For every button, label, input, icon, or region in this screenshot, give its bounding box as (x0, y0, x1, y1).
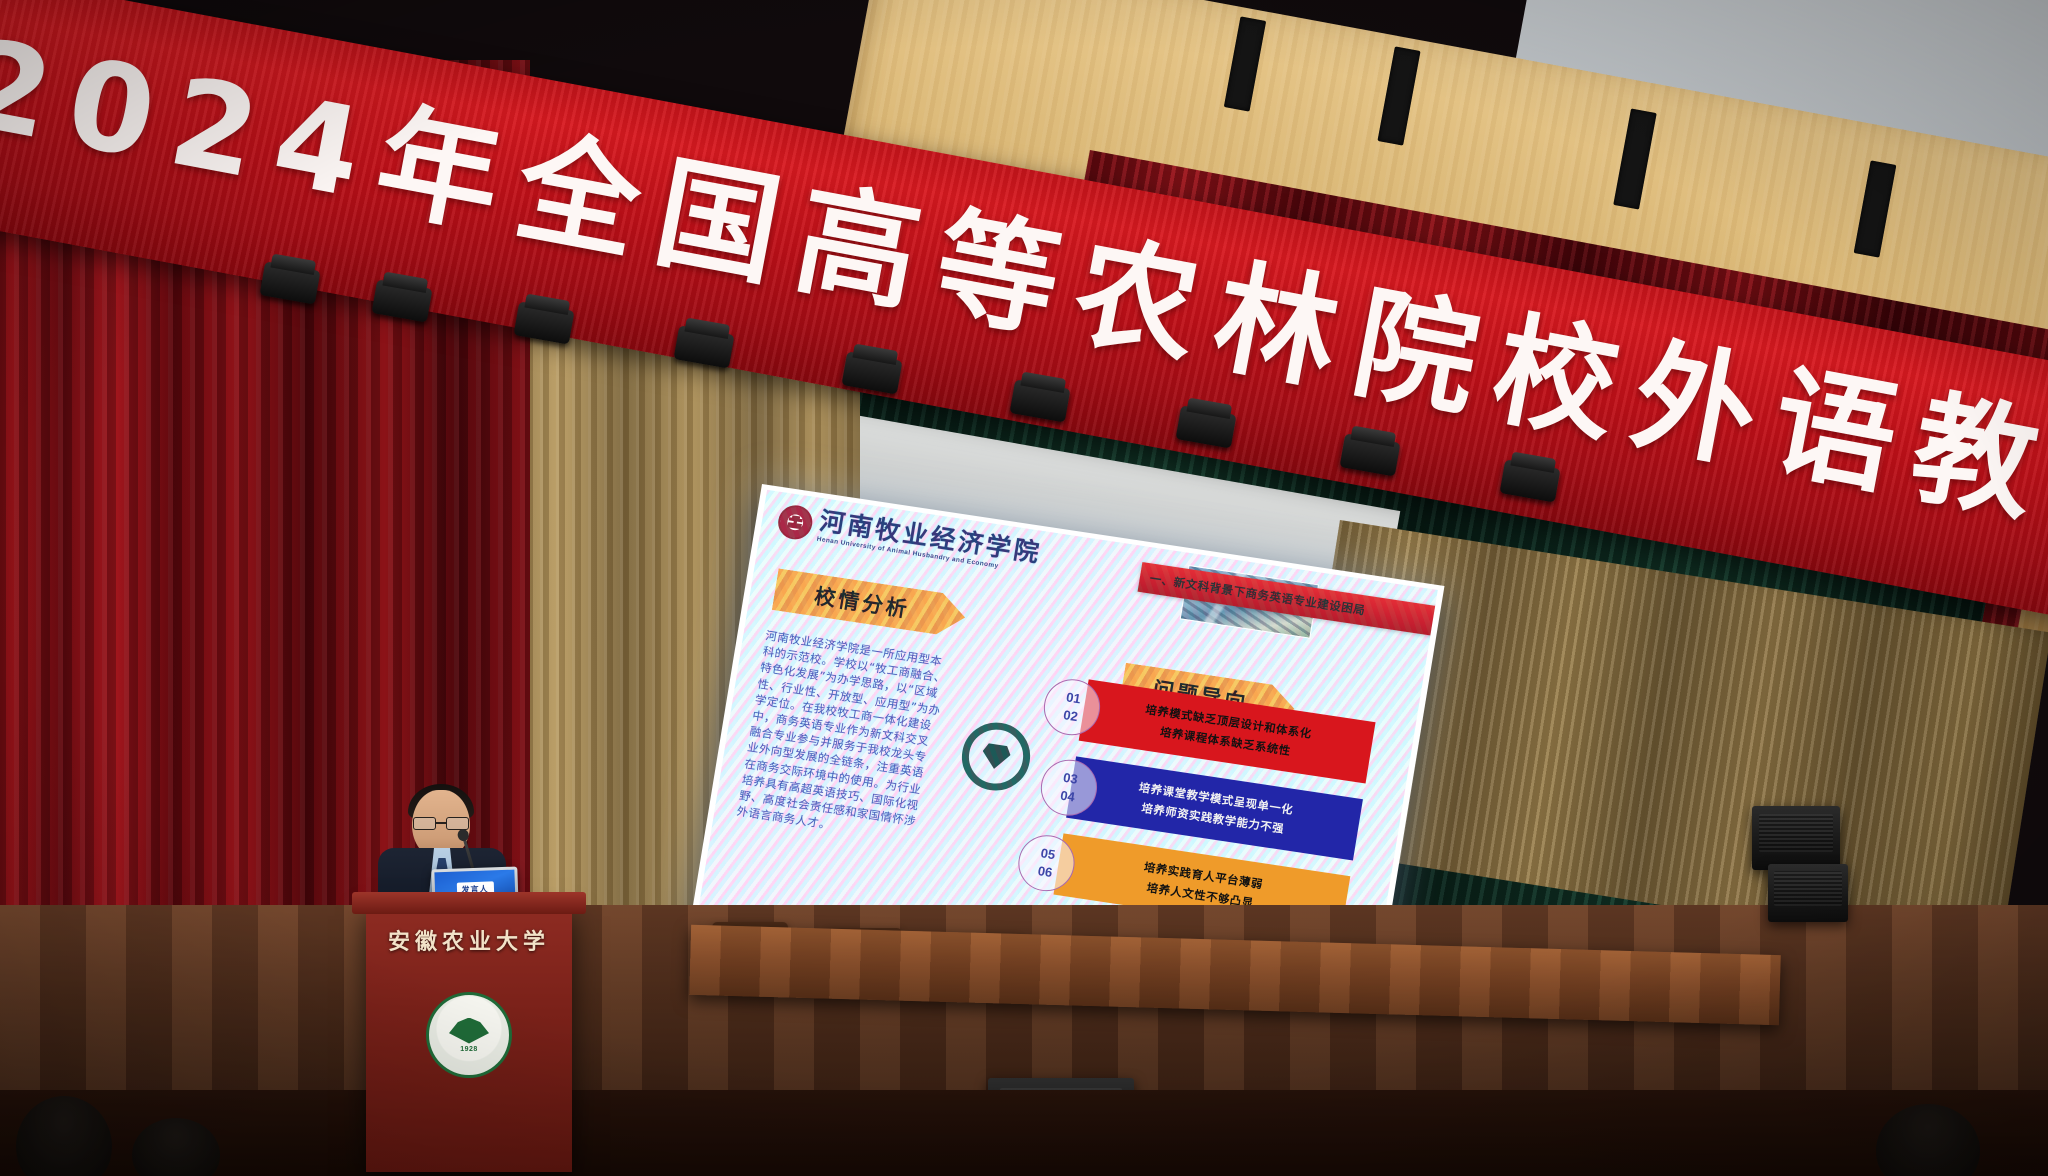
conference-hall-photo: 2024年全国高等农林院校外语教学研究会年会 河南牧业经济学院 Henan Un… (0, 0, 2048, 1176)
slide-body-paragraph: 河南牧业经济学院是一所应用型本科的示范校。学校以“牧工商融合、特色化发展”为办学… (736, 627, 955, 847)
front-floor-shadow (0, 1090, 2048, 1176)
number-02: 02 (1062, 706, 1079, 725)
pa-speaker-right (1752, 806, 1840, 870)
diamond-medallion (957, 718, 1035, 795)
slide-header-left-label: 校情分析 (812, 580, 928, 626)
podium-venue-name: 安徽农业大学 (366, 924, 572, 956)
diamond-icon (980, 742, 1012, 771)
slide-header-left: 校情分析 (772, 568, 969, 638)
glasses-icon (412, 817, 470, 830)
number-06: 06 (1036, 862, 1053, 881)
number-01: 01 (1065, 689, 1082, 708)
podium: 安徽农业大学 1928 (366, 906, 572, 1172)
number-05: 05 (1039, 845, 1056, 864)
university-emblem-icon: 1928 (426, 992, 512, 1078)
university-seal-icon (776, 503, 815, 542)
leaf-icon (449, 1018, 489, 1044)
number-04: 04 (1059, 787, 1076, 806)
number-03: 03 (1062, 769, 1079, 788)
podium-emblem-year: 1928 (460, 1046, 478, 1053)
pa-speaker-corner (1768, 864, 1848, 922)
